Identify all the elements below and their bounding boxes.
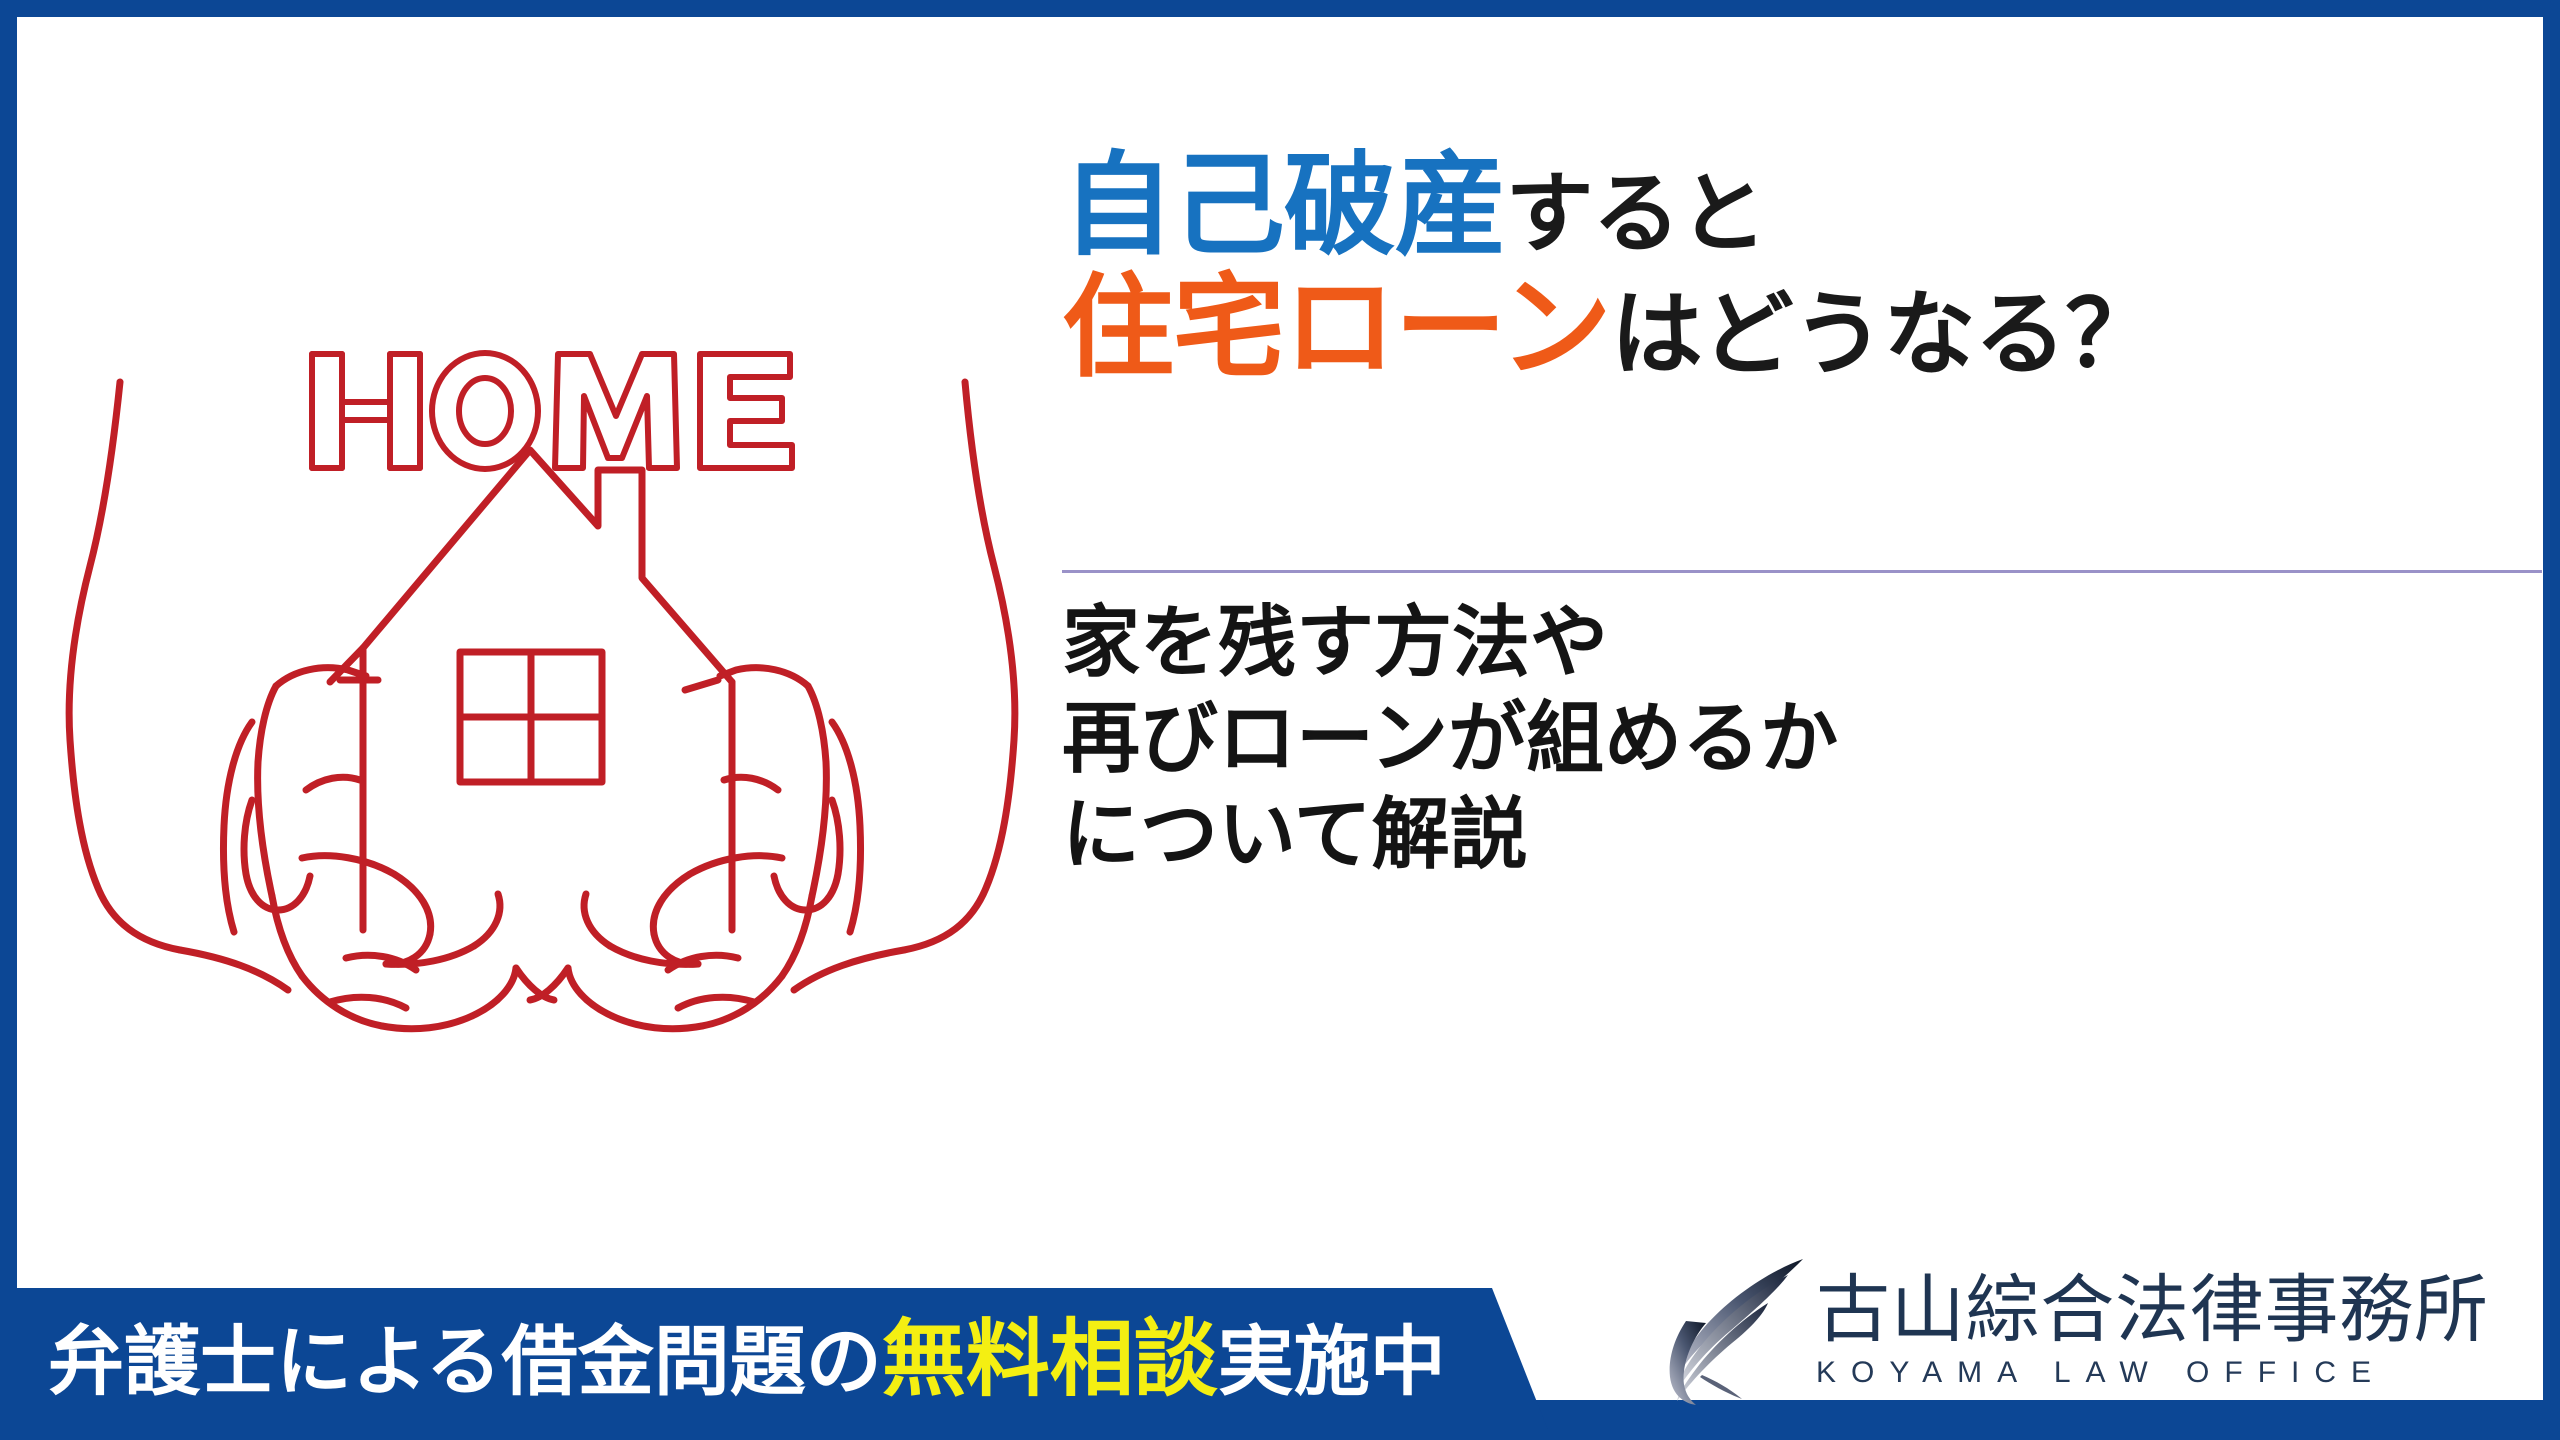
subtitle-line-2: 再びローンが組めるか: [1062, 692, 2542, 788]
home-word-outline: [312, 353, 792, 469]
firm-name-japanese: 古山綜合法律事務所: [1816, 1273, 2489, 1348]
frame-border-top: [0, 0, 2560, 17]
headline-line-2: 住宅ローンはどうなる？: [1062, 272, 2542, 384]
banner-lead-text: 弁護士による借金問題の: [48, 1317, 882, 1406]
subtitle-block: 家を残す方法や 再びローンが組めるか について解説: [1062, 596, 2542, 884]
headline-divider: [1062, 570, 2542, 573]
firm-name-english: KOYAMA LAW OFFICE: [1816, 1356, 2489, 1389]
headline-block: 自己破産すると 住宅ローンはどうなる？: [1062, 150, 2542, 384]
subtitle-line-3: について解説: [1062, 788, 2542, 884]
wing-feather-icon: [1660, 1257, 1810, 1405]
banner-highlight-text: 無料相談: [882, 1310, 1218, 1408]
frame-border-right: [2543, 0, 2560, 1440]
subtitle-line-1: 家を残す方法や: [1062, 596, 2542, 692]
firm-logo: 古山綜合法律事務所 KOYAMA LAW OFFICE: [1660, 1256, 2540, 1406]
headline-line-1: 自己破産すると: [1062, 150, 2542, 262]
hands-holding-house-illustration: [30, 330, 1050, 1090]
frame-border-bottom: [0, 1430, 2560, 1440]
frame-border-left: [0, 0, 17, 1440]
headline-suffix-suruto: すると: [1506, 162, 1767, 265]
firm-logo-text: 古山綜合法律事務所 KOYAMA LAW OFFICE: [1816, 1273, 2489, 1389]
headline-emphasis-jikohasan: 自己破産: [1062, 141, 1506, 271]
poster-canvas: 自己破産すると 住宅ローンはどうなる？ 家を残す方法や 再びローンが組めるか に…: [0, 0, 2560, 1440]
banner-text: 弁護士による借金問題の無料相談実施中: [48, 1317, 1446, 1401]
headline-suffix-question: はどうなる？: [1611, 281, 2156, 388]
free-consultation-banner: 弁護士による借金問題の無料相談実施中: [0, 1288, 1560, 1430]
banner-trail-text: 実施中: [1218, 1317, 1446, 1406]
headline-emphasis-jutaku-loan: 住宅ローン: [1062, 263, 1611, 393]
